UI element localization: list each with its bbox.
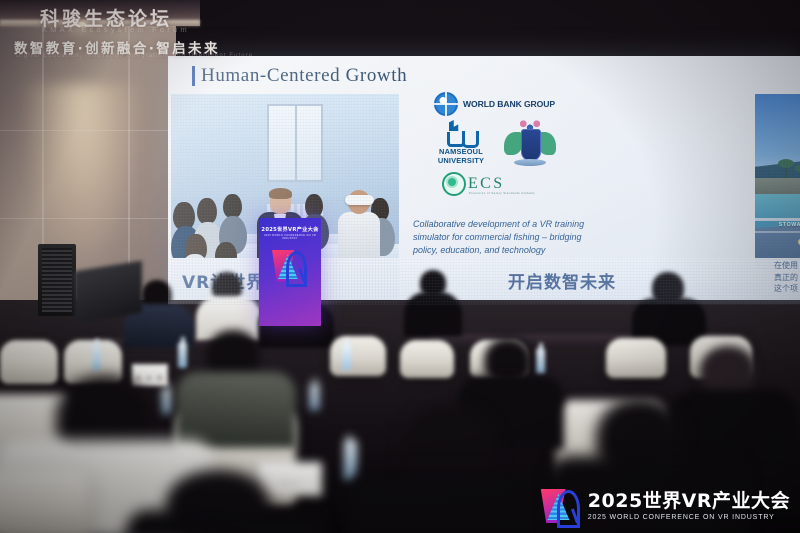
chair <box>330 336 386 376</box>
watermark-title-cn: 2025世界VR产业大会 <box>588 492 790 511</box>
name-placard-text: 李 方 <box>258 481 322 488</box>
slide-photo-vr-simulator: STOWAGE AREA ENGINE ROOM <box>755 94 800 269</box>
audience-torso-foreground <box>348 470 568 533</box>
namseoul-mark-icon <box>446 120 476 146</box>
led-side-line-3: 这个项 <box>774 283 798 295</box>
title-accent-bar <box>192 66 195 86</box>
conference-watermark: 2025世界VR产业大会 2025 WORLD CONFERENCE ON VR… <box>541 489 790 523</box>
water-bottle <box>342 344 351 370</box>
water-bottle <box>162 388 171 414</box>
vr-label-stowage: STOWAGE AREA <box>779 222 800 228</box>
water-bottle <box>536 348 545 374</box>
forum-title-en: KMAX Ecosystem Forum <box>42 25 190 34</box>
name-placard: 张 志 刚 <box>132 364 168 386</box>
watermark-title-en: 2025 WORLD CONFERENCE ON VR INDUSTRY <box>588 514 790 521</box>
chair <box>0 468 90 533</box>
coat-of-arms-icon <box>504 116 556 170</box>
namseoul-label-2: UNIVERSITY <box>428 157 494 166</box>
water-bottle <box>92 344 101 370</box>
wall-seam <box>0 218 176 219</box>
ecs-tagline: Promotion of Safety Standards Globally <box>442 192 562 195</box>
world-bank-label: WORLD BANK GROUP <box>463 99 555 109</box>
led-side-line-1: 在使用 <box>774 260 798 272</box>
chair <box>606 338 666 378</box>
name-placard-text: 张 志 刚 <box>132 375 168 382</box>
water-bottle <box>310 384 319 410</box>
podium-title-en: 2025 WORLD CONFERENCE ON VR INDUSTRY <box>259 234 321 240</box>
audience-torso-foreground <box>126 510 326 533</box>
globe-icon <box>434 92 458 116</box>
vr-conference-logo-icon <box>541 489 581 523</box>
water-bottle <box>178 342 187 368</box>
forum-header: 科骏生态论坛 KMAX Ecosystem Forum 数智教育·创新融合·智启… <box>0 0 330 66</box>
stage-monitor <box>74 261 142 324</box>
name-placard: 李 方 <box>258 462 322 496</box>
slide-title: Human-Centered Growth <box>201 65 407 87</box>
slide-blurb: Collaborative development of a VR traini… <box>413 218 603 257</box>
led-text-right: 开启数智未来 <box>508 268 616 293</box>
partner-logo-group: WORLD BANK GROUP NAMSEOUL UNIVERSITY ECS <box>416 92 606 212</box>
chair <box>0 340 58 384</box>
wall-seam <box>0 130 176 131</box>
ecs-label: ECS <box>468 175 505 193</box>
chair <box>400 340 454 378</box>
led-side-text: 在使用 真正的 这个项 <box>774 260 798 295</box>
podium: 2025世界VR产业大会 2025 WORLD CONFERENCE ON VR… <box>259 218 321 326</box>
pa-speaker <box>38 244 76 316</box>
audience-torso <box>404 292 462 336</box>
world-bank-logo: WORLD BANK GROUP <box>434 92 555 116</box>
namseoul-logo: NAMSEOUL UNIVERSITY <box>428 120 494 165</box>
vr-headset-icon <box>345 195 374 205</box>
podium-vr-logo-icon <box>272 250 308 282</box>
audience-torso <box>176 372 296 448</box>
led-side-line-2: 真正的 <box>774 272 798 284</box>
conference-photo-scene: 科骏生态论坛 KMAX Ecosystem Forum 数智教育·创新融合·智启… <box>0 0 800 533</box>
podium-title-cn: 2025世界VR产业大会 <box>259 226 321 233</box>
forum-tagline-en: Digital Education, Innovation Integratio… <box>16 53 253 59</box>
